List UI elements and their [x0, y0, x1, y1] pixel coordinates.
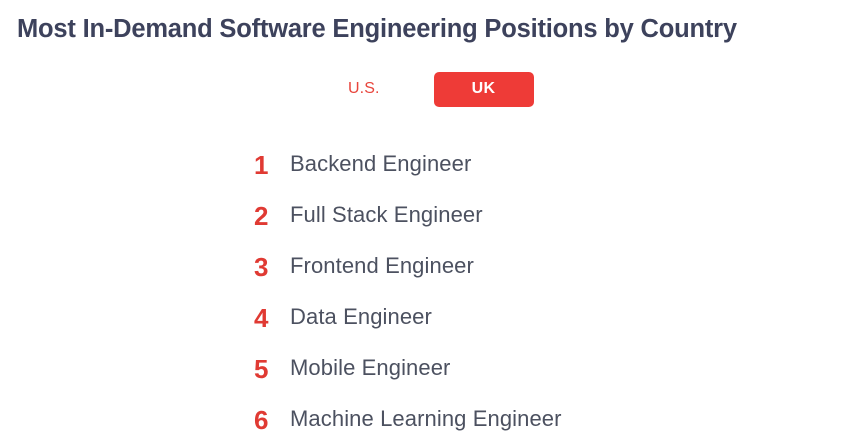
- country-tab-group: U.S. UK: [0, 71, 845, 107]
- position-label: Machine Learning Engineer: [290, 407, 562, 431]
- position-label: Data Engineer: [290, 305, 432, 329]
- page-title: Most In-Demand Software Engineering Posi…: [17, 13, 837, 45]
- position-label: Full Stack Engineer: [290, 203, 483, 227]
- position-label: Frontend Engineer: [290, 254, 474, 278]
- list-item: 4 Data Engineer: [0, 292, 845, 343]
- rank-number: 3: [250, 254, 290, 280]
- infographic-panel: Most In-Demand Software Engineering Posi…: [0, 0, 845, 446]
- list-item: 2 Full Stack Engineer: [0, 190, 845, 241]
- tab-uk[interactable]: UK: [434, 72, 534, 107]
- rank-number: 4: [250, 305, 290, 331]
- rank-number: 1: [250, 152, 290, 178]
- list-item: 6 Machine Learning Engineer: [0, 394, 845, 445]
- rank-number: 2: [250, 203, 290, 229]
- tab-us[interactable]: U.S.: [340, 72, 388, 107]
- position-label: Mobile Engineer: [290, 356, 450, 380]
- position-label: Backend Engineer: [290, 152, 471, 176]
- rank-number: 5: [250, 356, 290, 382]
- list-item: 1 Backend Engineer: [0, 139, 845, 190]
- list-item: 5 Mobile Engineer: [0, 343, 845, 394]
- rank-number: 6: [250, 407, 290, 433]
- position-ranking-list: 1 Backend Engineer 2 Full Stack Engineer…: [0, 139, 845, 445]
- list-item: 3 Frontend Engineer: [0, 241, 845, 292]
